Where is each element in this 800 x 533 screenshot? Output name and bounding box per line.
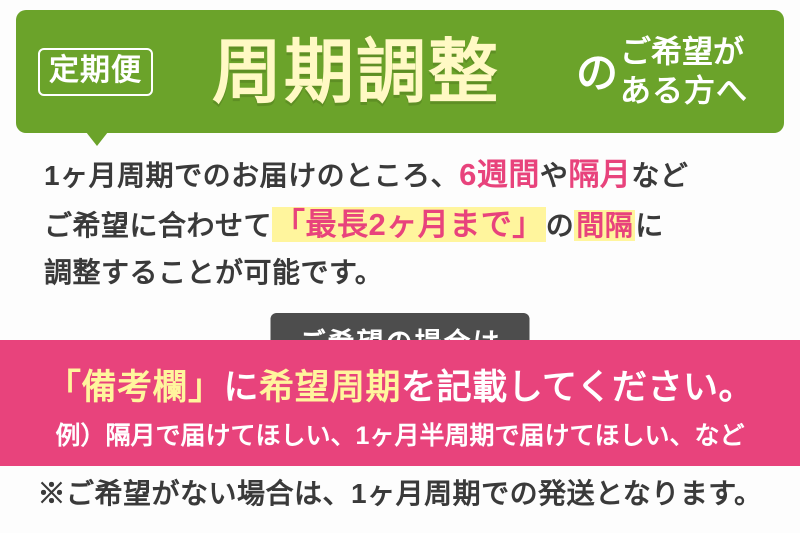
banner-particle: の [576,52,618,94]
body-line2-part-a: ご希望に合わせて [44,210,272,241]
pink-cta-line-1: 「備考欄」に希望周期を記載してください。 [46,370,754,405]
pink-cta-part-d: を記載してください。 [401,368,754,407]
banner-right-text: ご希望が ある方へ [620,32,748,111]
footer-note: ※ご希望がない場合は、1ヶ月周期での発送となります。 [38,480,763,508]
body-line1-highlight-bimonthly: 隔月 [568,157,631,192]
pink-cta-remarks-field: 「備考欄」 [46,368,224,407]
body-line1-part-c: や [540,160,569,191]
body-line2-highlight-max: 「最長2ヶ月まで」 [272,207,546,242]
pink-cta-example: 例）隔月で届けてほしい、1ヶ月半周期で届けてほしい、など [56,424,745,449]
body-line-1: 1ヶ月周期でのお届けのところ、6週間や隔月など [44,150,784,200]
body-line2-part-e: に [635,210,664,241]
body-line-2: ご希望に合わせて「最長2ヶ月まで」の間隔に [44,200,784,250]
green-banner: 定期便 周期調整 の ご希望が ある方へ [16,10,784,133]
banner-right-line1: ご希望が [620,32,748,72]
body-line2-highlight-interval: 間隔 [574,210,635,241]
pink-cta-desired-cycle: 希望周期 [259,368,401,407]
body-line1-part-a: 1ヶ月周期でのお届けのところ、 [44,160,459,191]
body-line1-part-e: など [631,160,688,191]
banner-right-line2: ある方へ [620,72,748,112]
body-line1-highlight-weeks: 6週間 [459,157,540,192]
promo-banner-page: 定期便 周期調整 の ご希望が ある方へ 1ヶ月周期でのお届けのところ、6週間や… [0,0,800,533]
body-copy: 1ヶ月周期でのお届けのところ、6週間や隔月など ご希望に合わせて「最長2ヶ月まで… [44,150,784,296]
green-banner-wrap: 定期便 周期調整 の ご希望が ある方へ [16,10,784,133]
body-line2-part-c: の [546,210,575,241]
body-line-3: 調整することが可能です。 [44,250,784,295]
subscription-badge: 定期便 [38,48,153,96]
pink-cta-band: 「備考欄」に希望周期を記載してください。 例）隔月で届けてほしい、1ヶ月半周期で… [0,340,800,466]
banner-main-title: 周期調整 [212,37,500,107]
pink-cta-part-b: に [224,368,260,407]
